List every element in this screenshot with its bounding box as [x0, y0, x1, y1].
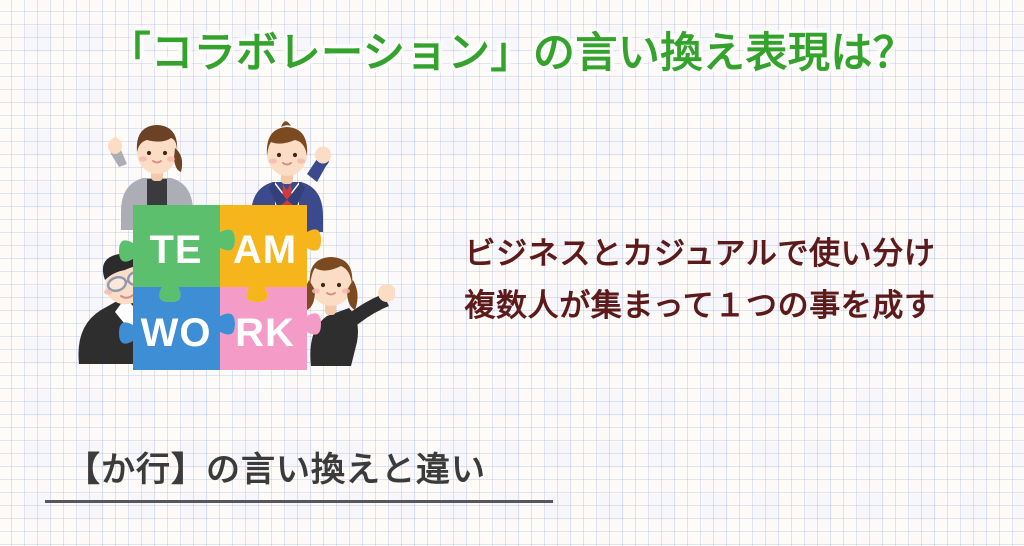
svg-text:AM: AM — [233, 228, 297, 272]
section-heading: 【か行】の言い換えと違い — [66, 452, 486, 489]
page-title: 「コラボレーション」の言い換え表現は？ — [0, 30, 1024, 76]
teamwork-puzzle-illustration: TE AM WO RK — [75, 112, 395, 382]
slide-canvas: 「コラボレーション」の言い換え表現は？ — [0, 0, 1024, 546]
description-line-1: ビジネスとカジュアルで使い分け — [430, 238, 970, 269]
svg-text:RK: RK — [235, 311, 295, 355]
svg-text:TE: TE — [149, 228, 202, 272]
description-block: ビジネスとカジュアルで使い分け 複数人が集まって１つの事を成す — [430, 238, 970, 321]
puzzle-piece-bottom-right: RK — [220, 287, 321, 370]
svg-text:WO: WO — [141, 311, 212, 355]
section-heading-rule — [45, 500, 553, 503]
person-woman-arm-raised — [304, 257, 395, 366]
description-line-2: 複数人が集まって１つの事を成す — [430, 290, 970, 321]
